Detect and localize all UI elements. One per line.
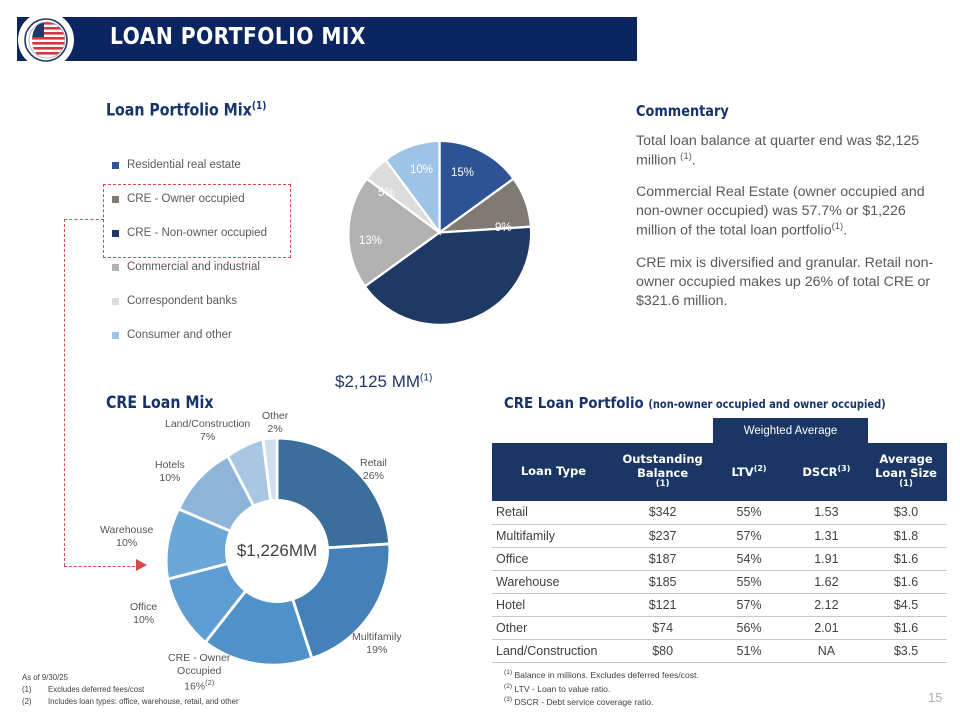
pie-label-cre-non-owner-occupied: 48% bbox=[427, 340, 450, 352]
footnote-num: (2) bbox=[22, 696, 48, 708]
column-header-sup: (3) bbox=[838, 464, 851, 473]
table-footnote-3: (3) DSCR - Debt service coverage ratio. bbox=[504, 695, 924, 709]
column-header-sup: (2) bbox=[754, 464, 767, 473]
cell-loan-type: Retail bbox=[492, 501, 615, 524]
cell-ltv: 55% bbox=[710, 570, 787, 593]
slide-footnote-1: (1)Excludes deferred fees/cost bbox=[22, 684, 322, 696]
cell-loan-type: Other bbox=[492, 616, 615, 639]
cre-loan-mix-title: CRE Loan Mix bbox=[106, 393, 214, 412]
cell-dscr: 1.31 bbox=[788, 524, 865, 547]
legend-label: Consumer and other bbox=[127, 329, 232, 341]
callout-connector-vertical bbox=[64, 219, 65, 566]
cell-dscr: 1.62 bbox=[788, 570, 865, 593]
cell-avg-loan-size: $1.8 bbox=[865, 524, 947, 547]
donut-label-other: Other2% bbox=[262, 410, 288, 436]
cell-avg-loan-size: $1.6 bbox=[865, 616, 947, 639]
cell-loan-type: Hotel bbox=[492, 593, 615, 616]
donut-label-retail: Retail26% bbox=[360, 457, 387, 483]
cell-ltv: 55% bbox=[710, 501, 787, 524]
footnote-text: DSCR - Debt service coverage ratio. bbox=[514, 697, 653, 707]
footnote-text: LTV - Loan to value ratio. bbox=[514, 683, 610, 693]
table-row[interactable]: Office $187 54% 1.91 $1.6 bbox=[492, 547, 947, 570]
commentary-paragraph-2: Commercial Real Estate (owner occupied a… bbox=[636, 183, 948, 240]
pie-label-correspondent-banks: 5% bbox=[378, 187, 395, 199]
table-row[interactable]: Retail $342 55% 1.53 $3.0 bbox=[492, 501, 947, 524]
slide-footnote-2: (2)Includes loan types: office, warehous… bbox=[22, 696, 322, 708]
cre-loan-portfolio-table: Loan Type Outstanding Balance(1) LTV(2) … bbox=[492, 443, 947, 663]
cell-ltv: 57% bbox=[710, 593, 787, 616]
column-header-footnote: (1) bbox=[867, 480, 945, 490]
table-footnotes: (1) Balance in millions. Excludes deferr… bbox=[504, 668, 924, 709]
cell-loan-type: Office bbox=[492, 547, 615, 570]
column-header-label: Average Loan Size bbox=[875, 452, 937, 479]
legend-item-residential-real-estate[interactable]: Residential real estate bbox=[112, 148, 302, 182]
cell-dscr: 1.53 bbox=[788, 501, 865, 524]
column-header-label: DSCR bbox=[802, 465, 837, 479]
cell-balance: $237 bbox=[615, 524, 711, 547]
cell-avg-loan-size: $1.6 bbox=[865, 570, 947, 593]
column-header-average-loan-size[interactable]: Average Loan Size(1) bbox=[865, 443, 947, 501]
legend-label: Residential real estate bbox=[127, 159, 241, 171]
table-footnote-1: (1) Balance in millions. Excludes deferr… bbox=[504, 668, 924, 682]
legend-label: Commercial and industrial bbox=[127, 261, 260, 273]
cell-loan-type: Land/Construction bbox=[492, 639, 615, 662]
pie-total-sup: (1) bbox=[420, 372, 432, 383]
cell-loan-type: Warehouse bbox=[492, 570, 615, 593]
footnote-sup: (1) bbox=[504, 669, 512, 676]
column-header-label: Loan Type bbox=[521, 464, 586, 478]
legend-swatch-icon bbox=[112, 332, 119, 339]
callout-arrow-icon bbox=[136, 559, 147, 571]
donut-label-multifamily: Multifamily19% bbox=[352, 631, 402, 657]
donut-label-hotels: Hotels10% bbox=[155, 459, 185, 485]
cell-balance: $342 bbox=[615, 501, 711, 524]
usa-flag-globe-icon bbox=[22, 16, 70, 64]
loan-portfolio-mix-title: Loan Portfolio Mix(1) bbox=[106, 100, 266, 120]
commentary-title: Commentary bbox=[636, 102, 729, 120]
commentary-body: Total loan balance at quarter end was $2… bbox=[636, 132, 948, 323]
cell-ltv: 51% bbox=[710, 639, 787, 662]
legend-label: Correspondent banks bbox=[127, 295, 237, 307]
pie-label-commercial-and-industrial: 13% bbox=[359, 235, 382, 247]
cell-avg-loan-size: $1.6 bbox=[865, 547, 947, 570]
page-title: LOAN PORTFOLIO MIX bbox=[110, 24, 366, 50]
table-footnote-2: (2) LTV - Loan to value ratio. bbox=[504, 682, 924, 696]
cell-balance: $74 bbox=[615, 616, 711, 639]
callout-connector-top bbox=[64, 219, 104, 220]
cell-balance: $121 bbox=[615, 593, 711, 616]
loan-portfolio-mix-title-text: Loan Portfolio Mix bbox=[106, 101, 252, 120]
cell-dscr: 2.12 bbox=[788, 593, 865, 616]
cell-ltv: 57% bbox=[710, 524, 787, 547]
loan-portfolio-mix-title-sup: (1) bbox=[252, 100, 267, 112]
callout-connector-bottom bbox=[64, 566, 140, 567]
column-header-label: LTV bbox=[732, 465, 754, 479]
pie-total-value: $2,125 MM bbox=[335, 372, 420, 391]
cell-dscr: NA bbox=[788, 639, 865, 662]
footnote-sup: (3) bbox=[504, 696, 512, 703]
company-logo bbox=[18, 12, 74, 68]
cell-dscr: 2.01 bbox=[788, 616, 865, 639]
table-row[interactable]: Land/Construction $80 51% NA $3.5 bbox=[492, 639, 947, 662]
footnote-text: Includes loan types: office, warehouse, … bbox=[48, 697, 239, 706]
table-row[interactable]: Other $74 56% 2.01 $1.6 bbox=[492, 616, 947, 639]
legend-swatch-icon bbox=[112, 298, 119, 305]
footnote-sup: (2) bbox=[504, 683, 512, 690]
callout-highlight-box bbox=[103, 184, 291, 258]
donut-label-office: Office10% bbox=[130, 601, 157, 627]
weighted-average-header: Weighted Average bbox=[713, 418, 868, 443]
column-header-label: Outstanding Balance bbox=[622, 452, 702, 479]
commentary-paragraph-3: CRE mix is diversified and granular. Ret… bbox=[636, 254, 948, 311]
page-number: 15 bbox=[928, 690, 942, 705]
column-header-loan-type[interactable]: Loan Type bbox=[492, 443, 615, 501]
pie-label-cre-owner-occupied: 9% bbox=[495, 222, 512, 234]
column-header-footnote: (1) bbox=[617, 480, 709, 490]
cell-ltv: 54% bbox=[710, 547, 787, 570]
column-header-dscr[interactable]: DSCR(3) bbox=[788, 443, 865, 501]
column-header-ltv[interactable]: LTV(2) bbox=[710, 443, 787, 501]
cell-balance: $185 bbox=[615, 570, 711, 593]
cell-dscr: 1.91 bbox=[788, 547, 865, 570]
cre-loan-portfolio-title-main: CRE Loan Portfolio bbox=[504, 394, 644, 412]
slide-footnotes: As of 9/30/25 (1)Excludes deferred fees/… bbox=[22, 672, 322, 708]
donut-center: $1,226MM bbox=[225, 499, 329, 603]
footnote-text: Balance in millions. Excludes deferred f… bbox=[514, 670, 698, 680]
cre-loan-portfolio-title: CRE Loan Portfolio (non-owner occupied a… bbox=[504, 394, 886, 412]
cell-avg-loan-size: $3.5 bbox=[865, 639, 947, 662]
legend-item-correspondent-banks[interactable]: Correspondent banks bbox=[112, 284, 302, 318]
pie-label-residential-real-estate: 15% bbox=[451, 167, 474, 179]
donut-center-label: $1,226MM bbox=[237, 541, 317, 561]
cell-loan-type: Multifamily bbox=[492, 524, 615, 547]
table-row[interactable]: Hotel $121 57% 2.12 $4.5 bbox=[492, 593, 947, 616]
commentary-paragraph-1: Total loan balance at quarter end was $2… bbox=[636, 132, 948, 170]
cell-avg-loan-size: $3.0 bbox=[865, 501, 947, 524]
cell-avg-loan-size: $4.5 bbox=[865, 593, 947, 616]
table-row[interactable]: Multifamily $237 57% 1.31 $1.8 bbox=[492, 524, 947, 547]
cre-loan-portfolio-title-sub: (non-owner occupied and owner occupied) bbox=[648, 397, 885, 411]
footnote-text: Excludes deferred fees/cost bbox=[48, 685, 144, 694]
legend-swatch-icon bbox=[112, 264, 119, 271]
legend-swatch-icon bbox=[112, 162, 119, 169]
as-of-date: As of 9/30/25 bbox=[22, 672, 322, 684]
pie-total-label: $2,125 MM(1) bbox=[335, 372, 432, 392]
cell-ltv: 56% bbox=[710, 616, 787, 639]
cell-balance: $80 bbox=[615, 639, 711, 662]
table-header-row: Loan Type Outstanding Balance(1) LTV(2) … bbox=[492, 443, 947, 501]
table-row[interactable]: Warehouse $185 55% 1.62 $1.6 bbox=[492, 570, 947, 593]
column-header-outstanding-balance[interactable]: Outstanding Balance(1) bbox=[615, 443, 711, 501]
pie-label-consumer-and-other: 10% bbox=[410, 164, 433, 176]
donut-label-warehouse: Warehouse10% bbox=[100, 524, 153, 550]
legend-item-consumer-and-other[interactable]: Consumer and other bbox=[112, 318, 302, 352]
cell-balance: $187 bbox=[615, 547, 711, 570]
footnote-num: (1) bbox=[22, 684, 48, 696]
loan-portfolio-pie-chart: 15% 9% 48% 13% 5% 10% bbox=[347, 140, 532, 380]
donut-label-land-construction: Land/Construction7% bbox=[165, 418, 250, 444]
